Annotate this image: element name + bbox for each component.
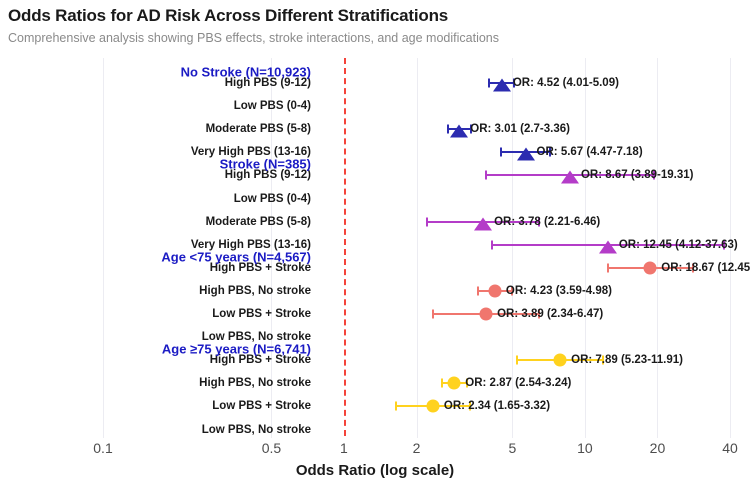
point-estimate-marker: [450, 125, 468, 138]
group-header: Stroke (N=385): [220, 157, 311, 172]
row-label: High PBS, No stroke: [1, 377, 311, 389]
x-tick-label: 40: [722, 440, 738, 456]
odds-ratio-annotation: OR: 3.78 (2.21-6.46): [494, 216, 600, 228]
x-tick-label: 2: [413, 440, 421, 456]
point-estimate-marker: [480, 308, 493, 321]
odds-ratio-annotation: OR: 7.89 (5.23-11.91): [571, 354, 683, 366]
x-tick-label: 0.1: [93, 440, 112, 456]
point-estimate-marker: [493, 79, 511, 92]
group-header: Age <75 years (N=4,567): [161, 249, 311, 264]
odds-ratio-annotation: OR: 12.45 (4.12-37.63): [619, 239, 738, 251]
ci-lower-cap: [607, 263, 609, 272]
ci-lower-cap: [488, 79, 490, 88]
x-tick-label: 5: [508, 440, 516, 456]
reference-line: [344, 58, 346, 438]
point-estimate-marker: [426, 400, 439, 413]
point-estimate-marker: [517, 148, 535, 161]
plot-area: High PBS (9-12)OR: 4.52 (4.01-5.09)Low P…: [0, 58, 750, 438]
point-estimate-marker: [561, 171, 579, 184]
point-estimate-marker: [599, 240, 617, 253]
gridline-2: [417, 58, 418, 438]
row-label: Low PBS + Stroke: [1, 308, 311, 320]
point-estimate-marker: [644, 261, 657, 274]
ci-lower-cap: [426, 217, 428, 226]
point-estimate-marker: [448, 377, 461, 390]
gridline-10: [585, 58, 586, 438]
ci-lower-cap: [485, 171, 487, 180]
ci-lower-cap: [447, 125, 449, 134]
odds-ratio-annotation: OR: 3.01 (2.7-3.36): [470, 123, 570, 135]
ci-lower-cap: [441, 379, 443, 388]
row-label: High PBS, No stroke: [1, 285, 311, 297]
x-tick-label: 0.5: [262, 440, 281, 456]
odds-ratio-annotation: OR: 4.52 (4.01-5.09): [513, 77, 619, 89]
odds-ratio-annotation: OR: 8.67 (3.89-19.31): [581, 169, 694, 181]
odds-ratio-annotation: OR: 3.89 (2.34-6.47): [497, 308, 603, 320]
row-label: Moderate PBS (5-8): [1, 216, 311, 228]
x-tick-label: 10: [577, 440, 593, 456]
row-label: Low PBS + Stroke: [1, 400, 311, 412]
page-subtitle: Comprehensive analysis showing PBS effec…: [8, 31, 499, 45]
ci-lower-cap: [500, 148, 502, 157]
odds-ratio-annotation: OR: 2.87 (2.54-3.24): [465, 377, 571, 389]
odds-ratio-annotation: OR: 4.23 (3.59-4.98): [506, 285, 612, 297]
x-tick-label: 1: [340, 440, 348, 456]
odds-ratio-annotation: OR: 2.34 (1.65-3.32): [444, 400, 550, 412]
group-header: No Stroke (N=10,923): [181, 65, 311, 80]
ci-lower-cap: [395, 402, 397, 411]
point-estimate-marker: [554, 354, 567, 367]
point-estimate-marker: [474, 217, 492, 230]
odds-ratio-annotation: OR: 5.67 (4.47-7.18): [537, 146, 643, 158]
ci-lower-cap: [477, 286, 479, 295]
page-title: Odds Ratios for AD Risk Across Different…: [8, 6, 448, 26]
ci-lower-cap: [516, 356, 518, 365]
forest-plot-figure: Odds Ratios for AD Risk Across Different…: [0, 0, 750, 489]
x-tick-label: 20: [650, 440, 666, 456]
row-label: Low PBS (0-4): [1, 193, 311, 205]
row-label: Low PBS, No stroke: [1, 424, 311, 436]
ci-lower-cap: [491, 240, 493, 249]
row-label: Low PBS (0-4): [1, 100, 311, 112]
point-estimate-marker: [488, 284, 501, 297]
plot-clip: High PBS (9-12)OR: 4.52 (4.01-5.09)Low P…: [0, 58, 750, 438]
x-axis-label: Odds Ratio (log scale): [0, 462, 750, 479]
odds-ratio-annotation: OR: 18.67 (12.45-28.0): [661, 262, 750, 274]
row-label: Moderate PBS (5-8): [1, 123, 311, 135]
group-header: Age ≥75 years (N=6,741): [162, 342, 311, 357]
ci-lower-cap: [432, 310, 434, 319]
